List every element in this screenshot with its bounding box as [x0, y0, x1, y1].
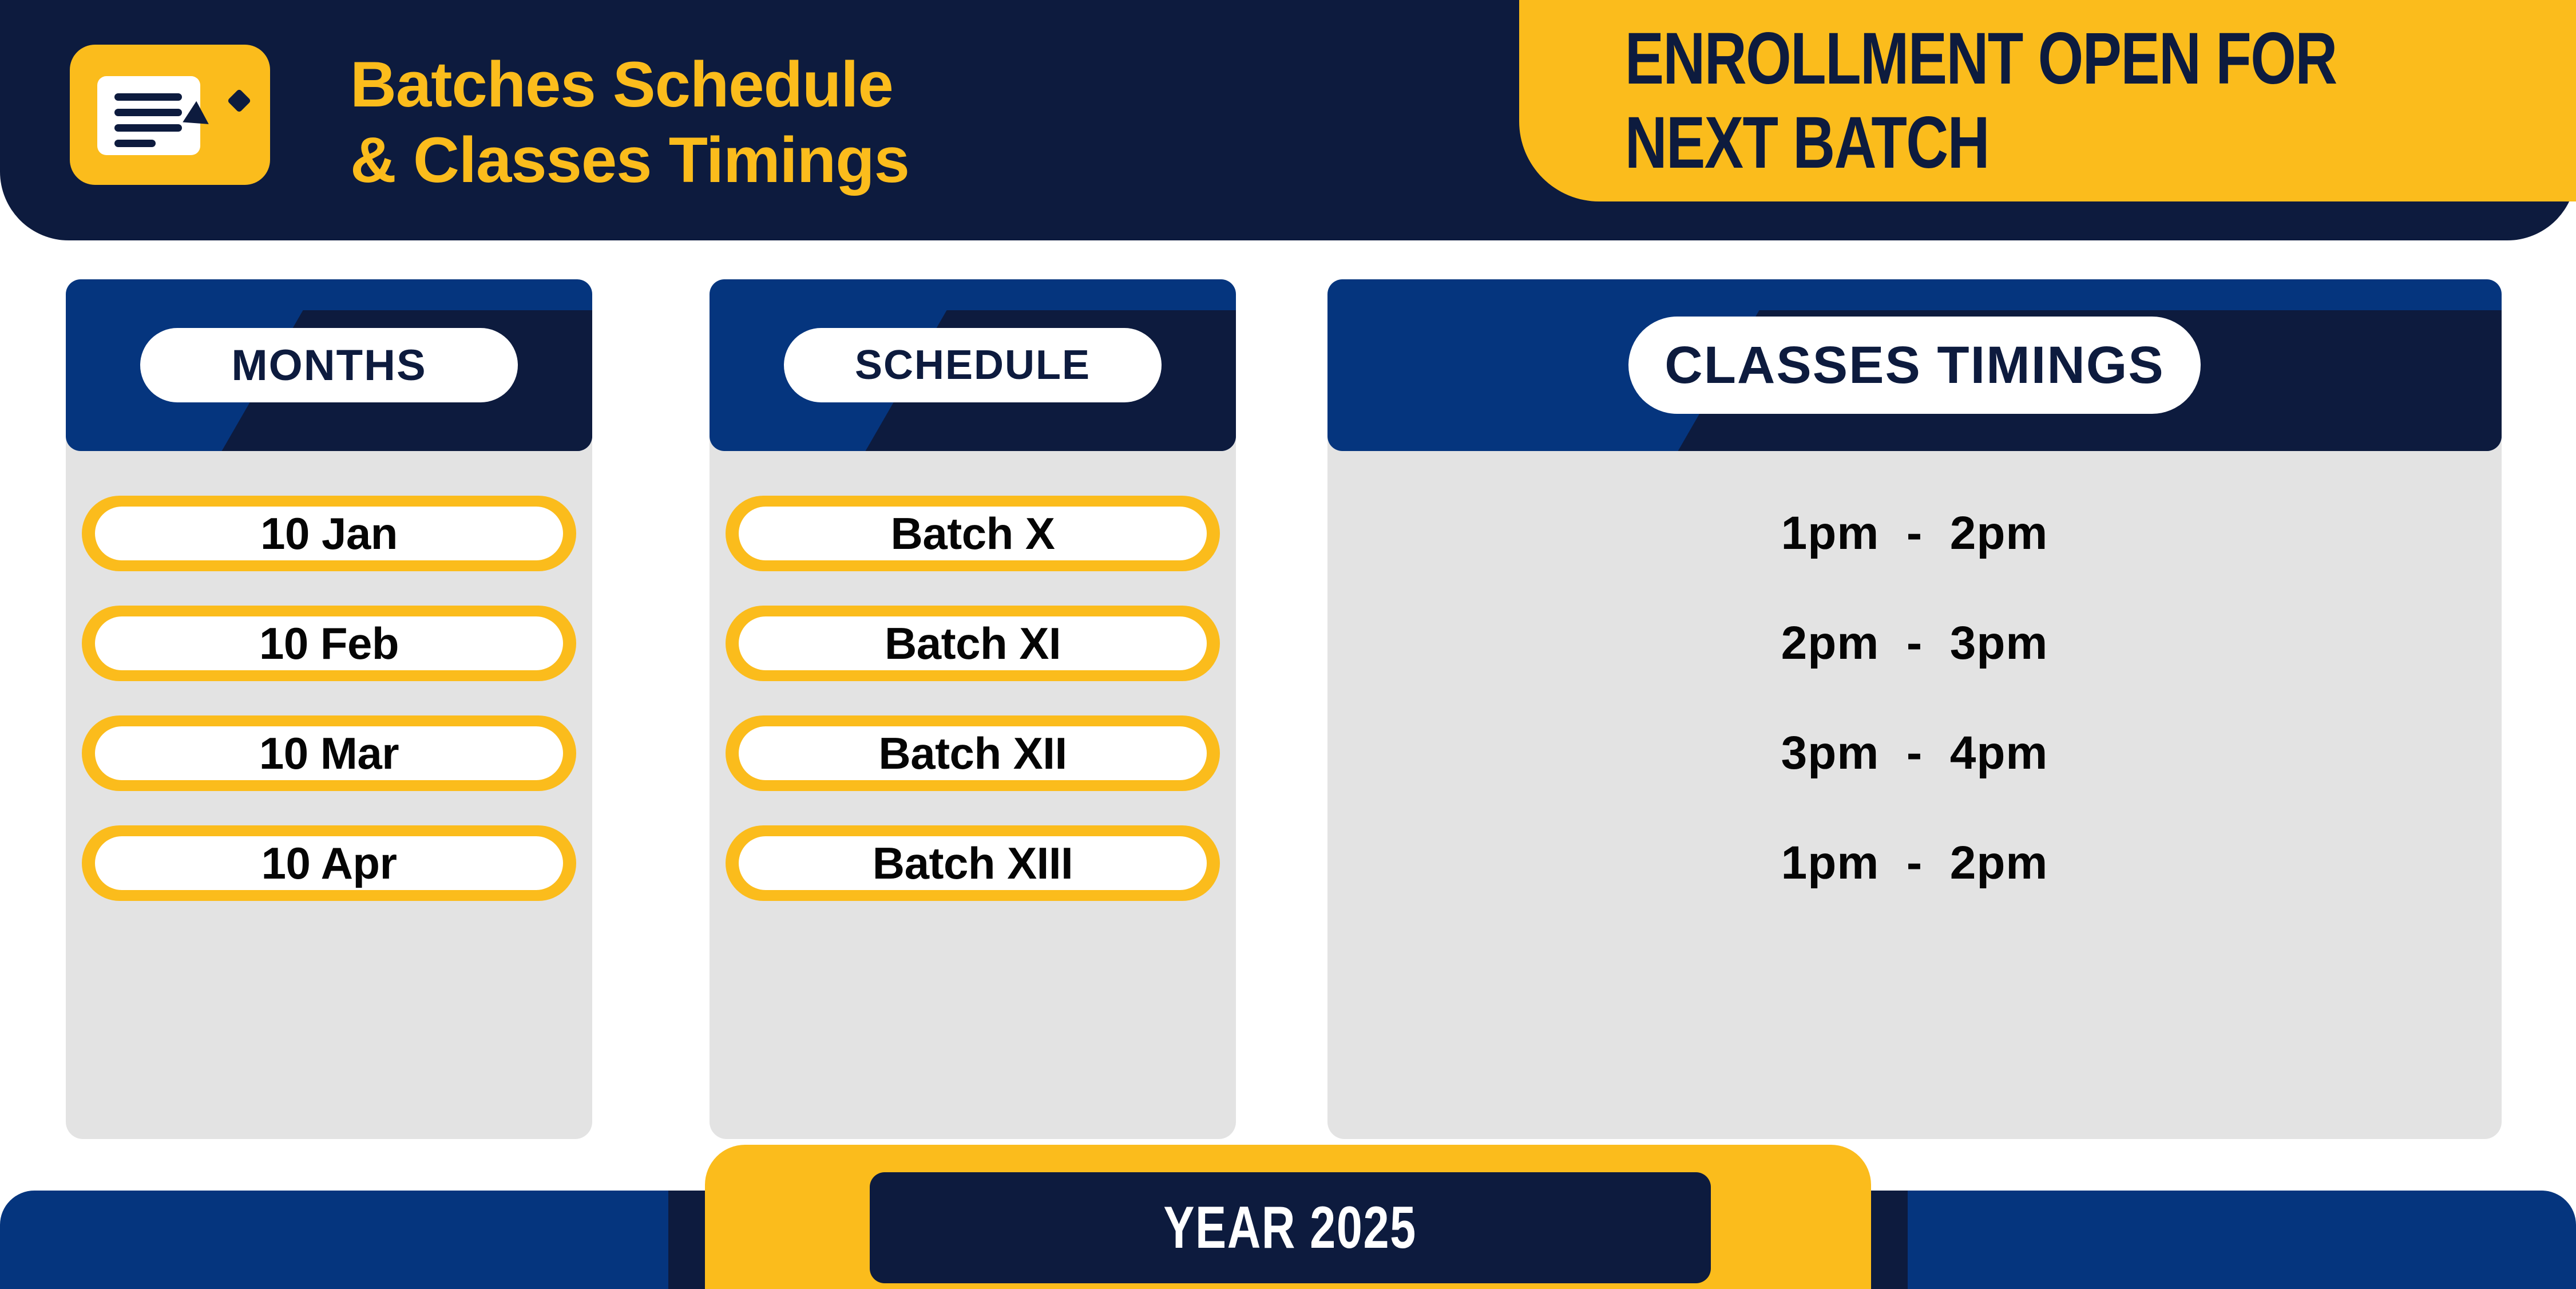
footer-shadow-left	[668, 1191, 705, 1289]
diamond-accent-icon	[227, 89, 251, 113]
classes-timings-heading-pill: CLASSES TIMINGS	[1628, 317, 2201, 414]
schedule-heading-pill: SCHEDULE	[784, 328, 1162, 402]
schedule-column-header: SCHEDULE	[710, 279, 1236, 451]
batch-item[interactable]: Batch XIII	[726, 825, 1220, 901]
timing-item: 2pm - 3pm	[1327, 606, 2502, 681]
classes-timings-column: CLASSES TIMINGS 1pm - 2pm 2pm - 3pm 3pm …	[1327, 279, 2502, 1139]
timing-item: 1pm - 2pm	[1327, 825, 2502, 901]
classes-timings-column-header: CLASSES TIMINGS	[1327, 279, 2502, 451]
months-heading-pill: MONTHS	[140, 328, 518, 402]
month-item[interactable]: 10 Feb	[82, 606, 576, 681]
month-item-label: 10 Jan	[95, 507, 563, 560]
timing-item: 1pm - 2pm	[1327, 496, 2502, 571]
months-list: 10 Jan 10 Feb 10 Mar 10 Apr	[66, 451, 592, 1139]
schedule-column: SCHEDULE Batch X Batch XI Batch XII Batc…	[710, 279, 1236, 1139]
month-item[interactable]: 10 Mar	[82, 715, 576, 791]
batch-item[interactable]: Batch XI	[726, 606, 1220, 681]
document-line-4	[114, 140, 156, 147]
schedule-list: Batch X Batch XI Batch XII Batch XIII	[710, 451, 1236, 1139]
batch-item[interactable]: Batch X	[726, 496, 1220, 571]
document-line-2	[114, 109, 182, 116]
batch-item-label: Batch XI	[739, 616, 1207, 670]
batch-item[interactable]: Batch XII	[726, 715, 1220, 791]
year-badge-label: YEAR 2025	[1164, 1194, 1417, 1262]
month-item-label: 10 Feb	[95, 616, 563, 670]
batch-item-label: Batch XII	[739, 726, 1207, 780]
document-edit-icon	[70, 45, 270, 185]
footer-shadow-right	[1871, 1191, 1908, 1289]
batch-item-label: Batch X	[739, 507, 1207, 560]
enrollment-banner: ENROLLMENT OPEN FOR NEXT BATCH	[1519, 0, 2576, 201]
months-column-header: MONTHS	[66, 279, 592, 451]
month-item-label: 10 Apr	[95, 836, 563, 890]
enrollment-banner-text: ENROLLMENT OPEN FOR NEXT BATCH	[1625, 0, 2471, 201]
month-item[interactable]: 10 Jan	[82, 496, 576, 571]
year-badge: YEAR 2025	[870, 1172, 1711, 1283]
months-column: MONTHS 10 Jan 10 Feb 10 Mar 10 Apr	[66, 279, 592, 1139]
month-item[interactable]: 10 Apr	[82, 825, 576, 901]
document-page-shape	[97, 76, 200, 155]
month-item-label: 10 Mar	[95, 726, 563, 780]
document-line-1	[114, 93, 182, 101]
document-line-3	[114, 124, 182, 132]
page-title: Batches Schedule & Classes Timings	[350, 47, 1437, 198]
timing-item: 3pm - 4pm	[1327, 715, 2502, 791]
timings-list: 1pm - 2pm 2pm - 3pm 3pm - 4pm 1pm - 2pm	[1327, 451, 2502, 1139]
batch-item-label: Batch XIII	[739, 836, 1207, 890]
